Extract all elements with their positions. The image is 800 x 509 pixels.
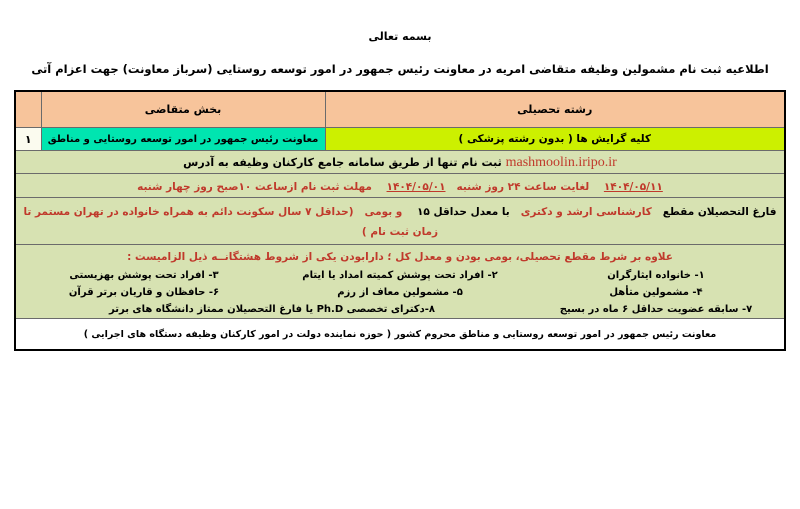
- deadline-end-date: ۱۴۰۴/۰۵/۱۱: [604, 181, 663, 193]
- table-row: کلیه گرایش ها ( بدون رشته پزشکی ) معاونت…: [15, 128, 785, 151]
- conditions-grid-row: ۴- مشمولین متأهل ۵- مشمولین معاف از رزم …: [16, 284, 784, 301]
- registration-row: mashmoolin.iripo.ir ثبت نام تنها از طریق…: [15, 151, 785, 174]
- conditions-row: علاوه بر شرط مقطع تحصیلی، بومی بودن و مع…: [15, 245, 785, 319]
- cell-requesting-section: معاونت رئیس جمهور در امور توسعه روستایی …: [41, 128, 325, 151]
- announcement-title: اطلاعیه ثبت نام مشمولین وظیفه متقاضی امر…: [0, 62, 800, 76]
- cell-field-of-study: کلیه گرایش ها ( بدون رشته پزشکی ): [325, 128, 785, 151]
- graduates-part2: با معدل حداقل ۱۵: [417, 206, 510, 218]
- footer-text: معاونت رئیس جمهور در امور توسعه روستایی …: [15, 319, 785, 351]
- deadline-middle-text: لغایت ساعت ۲۴ روز شنبه: [456, 181, 589, 193]
- condition-item-4: ۴- مشمولین متأهل: [528, 284, 784, 301]
- announcement-table: رشته تحصیلی بخش متقاضی کلیه گرایش ها ( ب…: [14, 90, 786, 351]
- deadline-prefix-text: مهلت ثبت نام ازساعت ۱۰صبح روز چهار شنبه: [137, 181, 372, 193]
- condition-item-7: ۷- سابقه عضویت حداقل ۶ ماه در بسیج: [528, 301, 784, 318]
- footer-row: معاونت رئیس جمهور در امور توسعه روستایی …: [15, 319, 785, 351]
- condition-item-6: ۶- حافظان و قاریان برتر قرآن: [16, 284, 272, 301]
- registration-line: mashmoolin.iripo.ir ثبت نام تنها از طریق…: [16, 151, 784, 173]
- cell-row-number: ۱: [15, 128, 41, 151]
- header-row-number: [15, 91, 41, 128]
- table-header-row: رشته تحصیلی بخش متقاضی: [15, 91, 785, 128]
- deadline-cell: ۱۴۰۴/۰۵/۱۱ لغایت ساعت ۲۴ روز شنبه ۱۴۰۴/۰…: [15, 174, 785, 198]
- graduates-row: فارغ التحصیلان مقطع کارشناسی ارشد و دکتر…: [15, 198, 785, 245]
- condition-item-3: ۳- افراد تحت پوشش بهزیستی: [16, 267, 272, 284]
- deadline-start-date: ۱۴۰۴/۰۵/۰۱: [387, 181, 446, 193]
- graduates-line: فارغ التحصیلان مقطع کارشناسی ارشد و دکتر…: [16, 198, 784, 244]
- condition-item-8: ۸-دکترای تخصصی Ph.D یا فارغ التحصیلان مم…: [16, 301, 528, 318]
- deadline-line: ۱۴۰۴/۰۵/۱۱ لغایت ساعت ۲۴ روز شنبه ۱۴۰۴/۰…: [16, 174, 784, 197]
- registration-cell: mashmoolin.iripo.ir ثبت نام تنها از طریق…: [15, 151, 785, 174]
- conditions-grid: ۱- خانواده ایثارگران ۲- افراد تحت پوشش ک…: [16, 267, 784, 318]
- graduates-part1: فارغ التحصیلان مقطع: [663, 206, 777, 218]
- header-requesting-section: بخش متقاضی: [41, 91, 325, 128]
- conditions-grid-row: ۱- خانواده ایثارگران ۲- افراد تحت پوشش ک…: [16, 267, 784, 284]
- graduates-local-highlight: و بومی: [365, 206, 403, 218]
- header-field-of-study: رشته تحصیلی: [325, 91, 785, 128]
- graduates-cell: فارغ التحصیلان مقطع کارشناسی ارشد و دکتر…: [15, 198, 785, 245]
- condition-item-1: ۱- خانواده ایثارگران: [528, 267, 784, 284]
- condition-item-2: ۲- افراد تحت پوشش کمیته امداد یا ایتام: [272, 267, 528, 284]
- registration-url[interactable]: mashmoolin.iripo.ir: [506, 154, 617, 171]
- condition-item-5: ۵- مشمولین معاف از رزم: [272, 284, 528, 301]
- bismillah-heading: بسمه تعالی: [0, 30, 800, 44]
- document-page: بسمه تعالی اطلاعیه ثبت نام مشمولین وظیفه…: [0, 30, 800, 509]
- registration-text: ثبت نام تنها از طریق سامانه جامع کارکنان…: [183, 156, 502, 169]
- conditions-title: علاوه بر شرط مقطع تحصیلی، بومی بودن و مع…: [16, 245, 784, 267]
- conditions-cell: علاوه بر شرط مقطع تحصیلی، بومی بودن و مع…: [15, 245, 785, 319]
- deadline-row: ۱۴۰۴/۰۵/۱۱ لغایت ساعت ۲۴ روز شنبه ۱۴۰۴/۰…: [15, 174, 785, 198]
- graduates-degree-highlight: کارشناسی ارشد و دکتری: [521, 206, 652, 218]
- conditions-grid-row: ۷- سابقه عضویت حداقل ۶ ماه در بسیج ۸-دکت…: [16, 301, 784, 318]
